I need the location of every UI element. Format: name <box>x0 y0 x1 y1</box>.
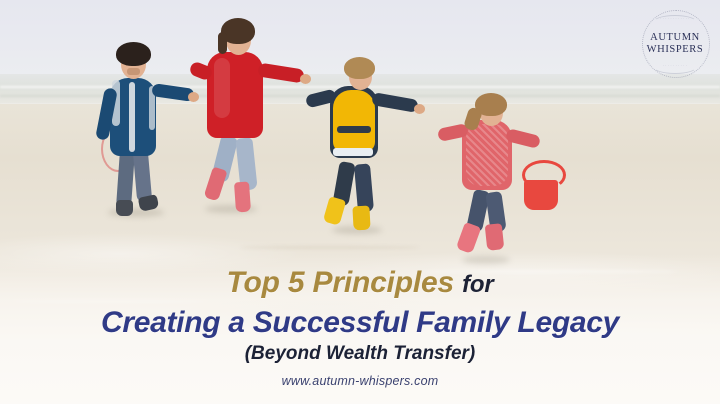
vest <box>333 90 375 152</box>
headline-line-1: Top 5 Principles for <box>0 266 720 302</box>
hair <box>344 57 375 79</box>
logo-line-1: AUTUMN <box>636 32 714 44</box>
bucket-handle <box>522 160 566 190</box>
logo-arc-bottom-text: · · · · · · · · · · <box>646 64 704 69</box>
website-url[interactable]: www.autumn-whispers.com <box>0 374 720 388</box>
sand-streak <box>240 246 420 249</box>
hand <box>300 74 311 84</box>
hair-side <box>218 32 227 54</box>
vest-strap <box>337 126 371 133</box>
headline-gold-text: Top 5 Principles <box>227 266 454 299</box>
headline-line-2: Creating a Successful Family Legacy <box>0 305 720 340</box>
jacket-pattern <box>466 124 508 186</box>
boot <box>352 206 370 231</box>
boot-striped <box>234 182 251 213</box>
logo-wordmark: AUTUMN WHISPERS <box>636 32 714 56</box>
brand-logo[interactable]: · · · · · · · · · · · · · · · · · · · · … <box>636 8 714 78</box>
jacket-highlight <box>214 58 230 118</box>
logo-line-2: WHISPERS <box>636 44 714 56</box>
boot <box>485 223 505 251</box>
beard <box>127 68 140 75</box>
jacket-zip <box>129 82 135 152</box>
shirt-hem <box>333 148 373 156</box>
hand <box>188 92 199 102</box>
boot <box>116 200 133 216</box>
headline-for-text: for <box>462 271 493 298</box>
hand <box>414 104 425 114</box>
slide-canvas: · · · · · · · · · · · · · · · · · · · · … <box>0 0 720 404</box>
headline-block: Top 5 Principles for Creating a Successf… <box>0 266 720 366</box>
logo-arc-top-text: · · · · · · · · · · · · <box>646 17 704 22</box>
hair <box>116 42 151 66</box>
headline-subtitle: (Beyond Wealth Transfer) <box>0 342 720 366</box>
